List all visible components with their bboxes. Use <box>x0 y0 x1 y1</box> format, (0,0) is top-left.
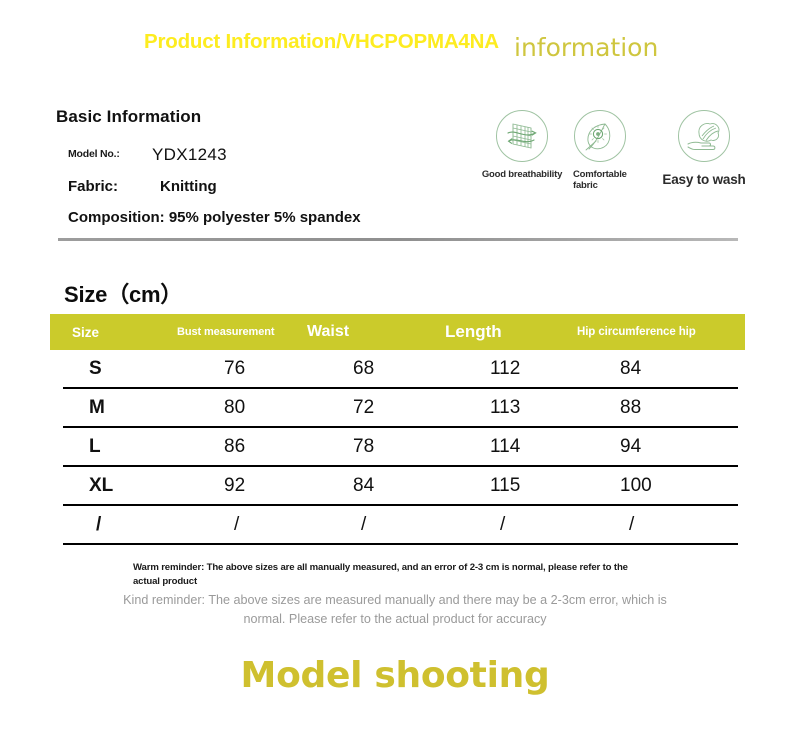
feather-comfort-icon <box>574 110 626 162</box>
cell-waist: 78 <box>353 428 374 465</box>
cell-hip: / <box>629 506 634 543</box>
model-shooting-title: Model shooting <box>0 655 790 696</box>
cell-waist: 68 <box>353 350 374 387</box>
cell-bust: 86 <box>224 428 245 465</box>
cell-hip: 100 <box>620 467 652 504</box>
cell-size: M <box>89 389 105 426</box>
table-row: / / / / / <box>63 506 738 545</box>
feature-label: Easy to wash <box>648 172 760 188</box>
cell-bust: / <box>234 506 239 543</box>
hand-wash-cloth-icon <box>678 110 730 162</box>
cell-waist: 72 <box>353 389 374 426</box>
column-header-waist: Waist <box>307 314 349 350</box>
fabric-label: Fabric: <box>68 178 118 195</box>
fabric-value: Knitting <box>160 178 217 195</box>
cell-waist: / <box>361 506 366 543</box>
feature-easy-to-wash: Easy to wash <box>648 110 760 188</box>
feature-label: Comfortable fabric <box>572 169 640 191</box>
breathable-mesh-icon <box>496 110 548 162</box>
section-divider <box>58 238 738 241</box>
cell-length: / <box>500 506 505 543</box>
page-subtitle: information <box>514 33 658 62</box>
cell-size: / <box>96 506 101 543</box>
feature-label: Good breathability <box>470 169 574 180</box>
cell-hip: 94 <box>620 428 641 465</box>
table-row: XL 92 84 115 100 <box>63 467 738 506</box>
cell-length: 114 <box>490 428 520 465</box>
feature-good-breathability: Good breathability <box>470 110 574 180</box>
cell-size: L <box>89 428 101 465</box>
warm-reminder-text: Warm reminder: The above sizes are all m… <box>133 561 648 589</box>
cell-length: 115 <box>490 467 520 504</box>
size-table-body: S 76 68 112 84 M 80 72 113 88 L 86 78 11… <box>63 350 738 545</box>
cell-size: XL <box>89 467 113 504</box>
size-section-heading: Size（cm） <box>64 277 182 309</box>
cell-bust: 80 <box>224 389 245 426</box>
feature-badges: Good breathability Comfortable fab <box>470 110 760 210</box>
model-number-value: YDX1243 <box>152 145 227 165</box>
cell-hip: 88 <box>620 389 641 426</box>
table-row: L 86 78 114 94 <box>63 428 738 467</box>
kind-reminder-text: Kind reminder: The above sizes are measu… <box>110 591 680 629</box>
column-header-length: Length <box>445 314 502 350</box>
cell-length: 112 <box>490 350 520 387</box>
composition-text: Composition: 95% polyester 5% spandex <box>68 209 361 226</box>
cell-waist: 84 <box>353 467 374 504</box>
feature-comfortable-fabric: Comfortable fabric <box>572 110 640 191</box>
column-header-bust: Bust measurement <box>177 314 274 350</box>
model-number-label: Model No.: <box>68 148 120 160</box>
cell-hip: 84 <box>620 350 641 387</box>
size-table-header-row: Size Bust measurement Waist Length Hip c… <box>50 314 745 350</box>
size-table: Size Bust measurement Waist Length Hip c… <box>50 314 745 545</box>
page-title: Product Information/VHCPOPMA4NA <box>144 30 499 54</box>
cell-bust: 76 <box>224 350 245 387</box>
column-header-hip: Hip circumference hip <box>577 314 696 350</box>
cell-length: 113 <box>490 389 520 426</box>
basic-information-heading: Basic Information <box>56 107 201 127</box>
page-title-band: Product Information/VHCPOPMA4NA informat… <box>0 0 790 84</box>
table-row: S 76 68 112 84 <box>63 350 738 389</box>
column-header-size: Size <box>72 314 99 350</box>
table-row: M 80 72 113 88 <box>63 389 738 428</box>
cell-size: S <box>89 350 102 387</box>
cell-bust: 92 <box>224 467 245 504</box>
